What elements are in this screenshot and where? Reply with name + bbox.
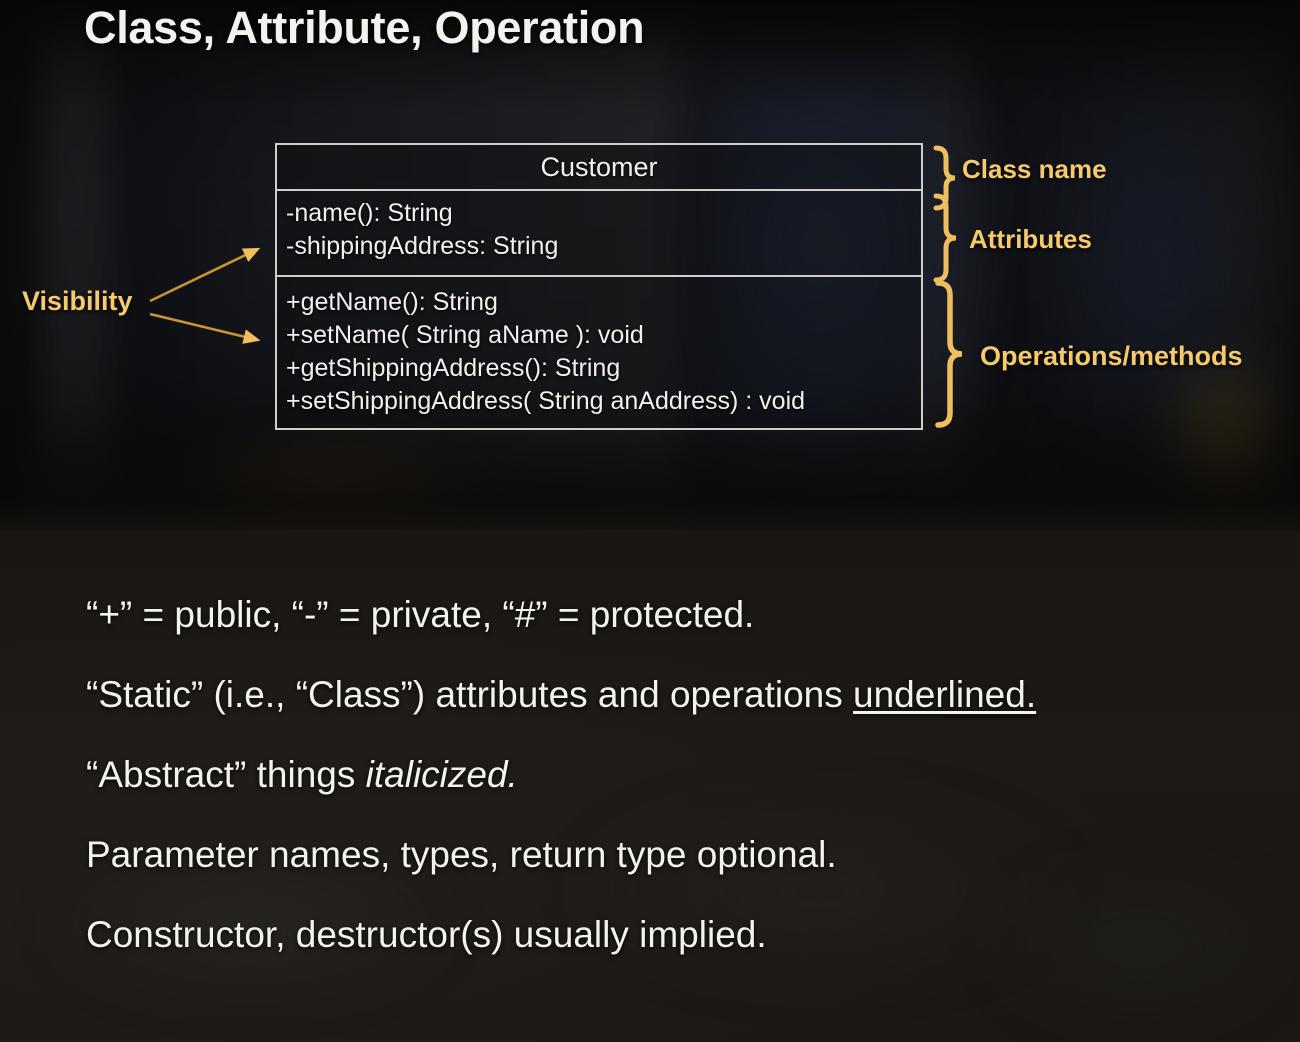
uml-class-name-compartment: Customer	[277, 145, 921, 191]
bullet-parameters-optional: Parameter names, types, return type opti…	[86, 828, 1206, 882]
uml-operation-row: +getName(): String	[286, 286, 921, 319]
bullet-constructor-implied: Constructor, destructor(s) usually impli…	[86, 908, 1206, 962]
uml-class-name-text: Customer	[540, 152, 657, 183]
bullet-text-run: “Static” (i.e., “Class”) attributes and …	[86, 674, 853, 715]
uml-operation-row: +getShippingAddress(): String	[286, 352, 921, 385]
uml-operation-row: +setName( String aName ): void	[286, 319, 921, 352]
bullet-underlined-run: underlined.	[853, 674, 1036, 715]
presentation-slide: Class, Attribute, Operation Customer -na…	[0, 0, 1300, 1042]
uml-operations-compartment: +getName(): String +setName( String aNam…	[277, 277, 921, 418]
uml-attribute-row: -shippingAddress: String	[286, 230, 921, 263]
uml-class-box: Customer -name(): String -shippingAddres…	[275, 143, 923, 430]
bullet-text-run: “Abstract” things	[86, 754, 366, 795]
bullet-italic-run: italicized.	[366, 754, 518, 795]
bullet-static-underlined: “Static” (i.e., “Class”) attributes and …	[86, 668, 1206, 722]
annotation-label-class-name: Class name	[962, 154, 1107, 185]
annotation-label-attributes: Attributes	[969, 224, 1092, 255]
annotation-label-operations: Operations/methods	[980, 341, 1243, 372]
bullet-text-run: Constructor, destructor(s) usually impli…	[86, 914, 767, 955]
uml-attribute-row: -name(): String	[286, 197, 921, 230]
bullet-text-run: Parameter names, types, return type opti…	[86, 834, 837, 875]
bullet-abstract-italic: “Abstract” things italicized.	[86, 748, 1206, 802]
bullet-visibility-symbols: “+” = public, “-” = private, “#” = prote…	[86, 588, 1206, 642]
slide-title: Class, Attribute, Operation	[84, 2, 644, 54]
uml-operation-row: +setShippingAddress( String anAddress) :…	[286, 385, 921, 418]
bullet-list: “+” = public, “-” = private, “#” = prote…	[86, 588, 1206, 988]
uml-attributes-compartment: -name(): String -shippingAddress: String	[277, 191, 921, 277]
annotation-label-visibility: Visibility	[22, 286, 133, 317]
bullet-text-run: “+” = public, “-” = private, “#” = prote…	[86, 594, 754, 635]
